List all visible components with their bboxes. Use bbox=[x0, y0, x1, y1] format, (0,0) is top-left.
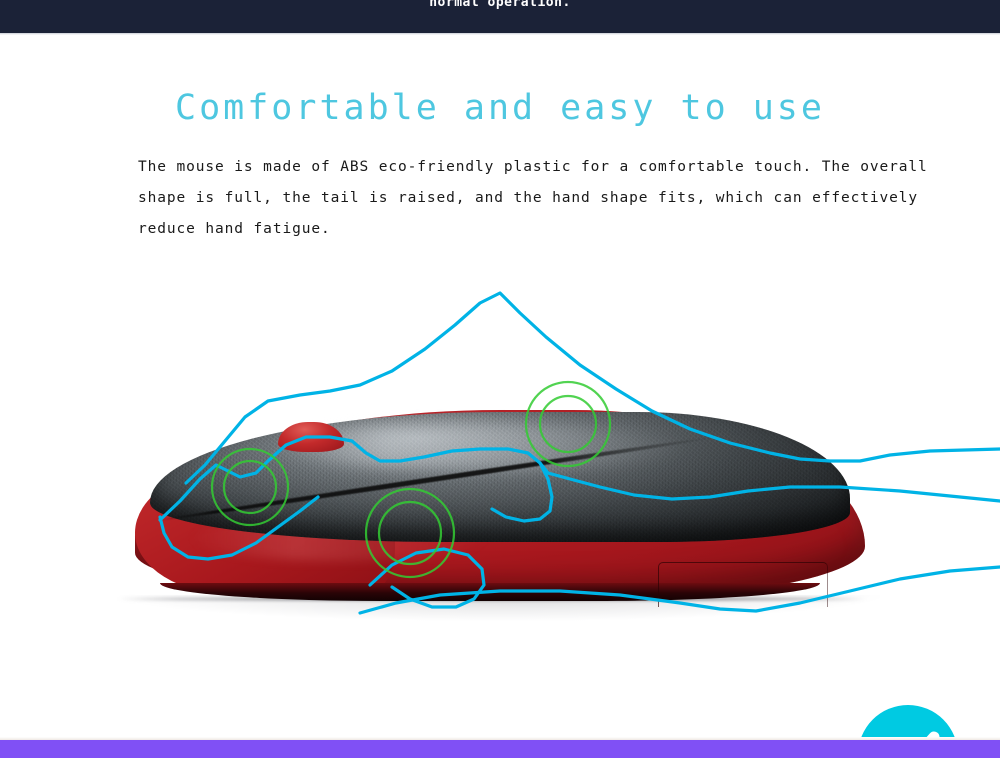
product-detail-page: normal operation. Comfortable and easy t… bbox=[0, 0, 1000, 758]
hand-outline-overlay bbox=[0, 265, 1000, 630]
page-title: Comfortable and easy to use bbox=[0, 88, 1000, 128]
top-banner: normal operation. bbox=[0, 0, 1000, 33]
touch-ring-inner-2 bbox=[540, 396, 596, 452]
description-line-3: reduce hand fatigue. bbox=[138, 214, 928, 245]
bottom-banner bbox=[0, 740, 1000, 758]
touch-ring-outer-2 bbox=[526, 382, 610, 466]
description-line-1: The mouse is made of ABS eco-friendly pl… bbox=[138, 152, 928, 183]
touch-ring-inner-1 bbox=[224, 461, 276, 513]
description-line-2: shape is full, the tail is raised, and t… bbox=[138, 183, 928, 214]
hand-outline-path bbox=[160, 293, 1000, 613]
banner-divider bbox=[0, 33, 1000, 35]
top-banner-text: normal operation. bbox=[0, 0, 1000, 13]
product-image bbox=[0, 265, 1000, 630]
touch-point-rings bbox=[212, 382, 610, 577]
description-paragraph: The mouse is made of ABS eco-friendly pl… bbox=[138, 152, 928, 245]
